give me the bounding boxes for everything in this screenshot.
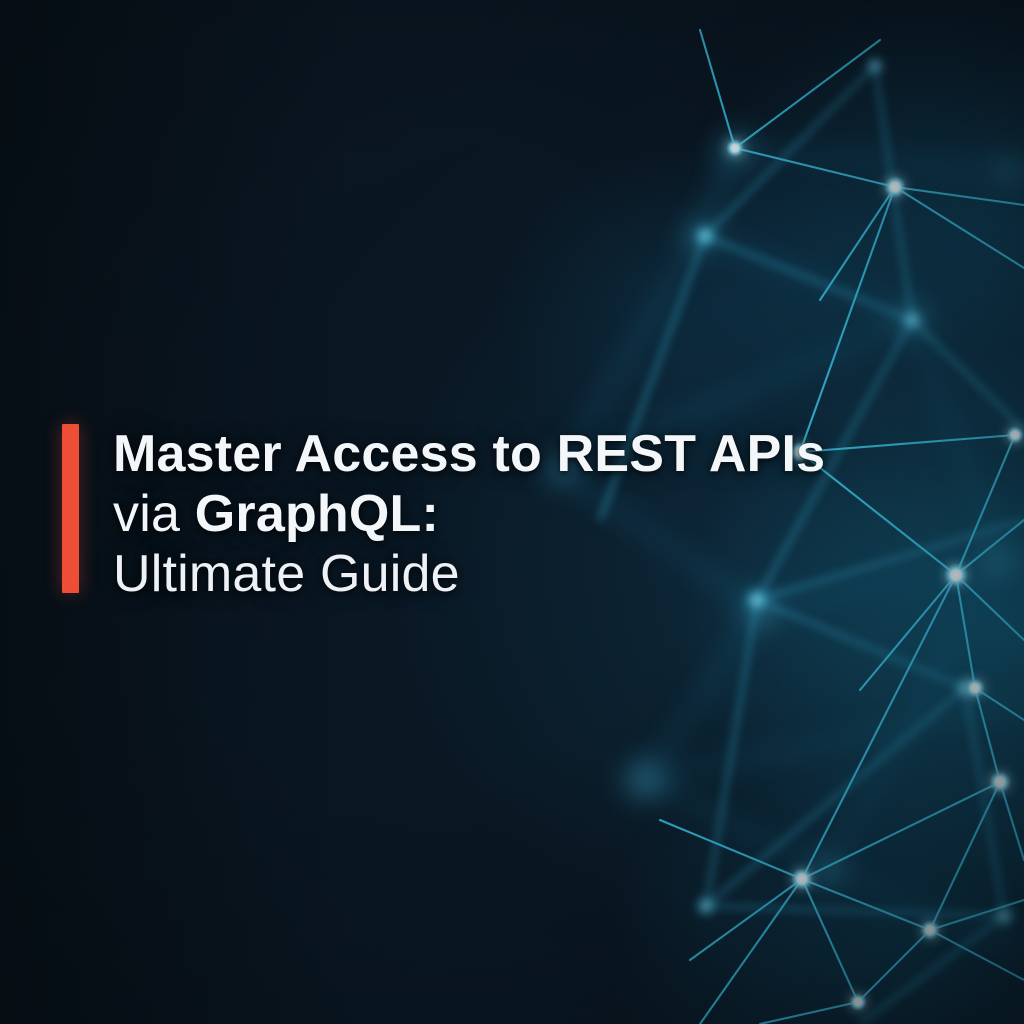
red-accent-bar — [62, 424, 79, 593]
hero-banner: Master Access to REST APIs via GraphQL: … — [0, 0, 1024, 1024]
title-lines: Master Access to REST APIs via GraphQL: … — [113, 424, 825, 604]
page-title-line-2-bold: GraphQL: — [195, 485, 439, 543]
hero-text-block: Master Access to REST APIs via GraphQL: … — [62, 424, 825, 604]
page-title-line-2-light: via — [113, 485, 195, 543]
page-title-line-2: via GraphQL: — [113, 484, 825, 544]
page-title-line-3: Ultimate Guide — [113, 544, 825, 604]
page-title-line-1: Master Access to REST APIs — [113, 424, 825, 484]
